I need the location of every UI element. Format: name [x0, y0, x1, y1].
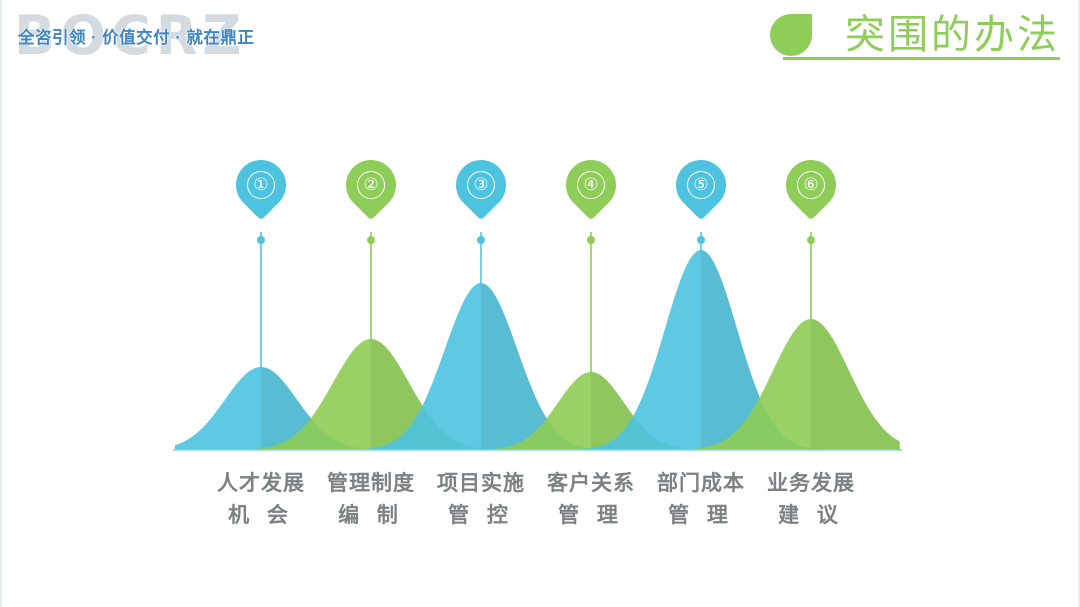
connector-dot-1 — [257, 236, 265, 244]
connector-dot-5 — [697, 236, 705, 244]
pin-number-5: ⑤ — [687, 171, 715, 199]
pin-number-1: ① — [247, 171, 275, 199]
pin-marker-1[interactable]: ① — [236, 160, 286, 224]
connector-dot-6 — [807, 236, 815, 244]
pin-number-3: ③ — [467, 171, 495, 199]
pin-marker-4[interactable]: ④ — [566, 160, 616, 224]
pin-marker-2[interactable]: ② — [346, 160, 396, 224]
slide-canvas: BOCRZ 全咨引领 · 价值交付 · 就在鼎正 突围的办法 ①人才发展机 会②… — [0, 0, 1080, 607]
pin-number-4: ④ — [577, 171, 605, 199]
pin-number-6: ⑥ — [797, 171, 825, 199]
pin-marker-3[interactable]: ③ — [456, 160, 506, 224]
connector-dot-3 — [477, 236, 485, 244]
pin-number-2: ② — [357, 171, 385, 199]
curve-label-6-line2: 建 议 — [746, 500, 876, 532]
curve-label-6: 业务发展建 议 — [746, 468, 876, 532]
bell-curve-chart: ①人才发展机 会②管理制度编 制③项目实施管 控④客户关系管 理⑤部门成本管 理… — [0, 0, 1080, 607]
pin-marker-5[interactable]: ⑤ — [676, 160, 726, 224]
connector-dot-4 — [587, 236, 595, 244]
curve-label-6-line1: 业务发展 — [746, 468, 876, 500]
connector-dot-2 — [367, 236, 375, 244]
pin-marker-6[interactable]: ⑥ — [786, 160, 836, 224]
